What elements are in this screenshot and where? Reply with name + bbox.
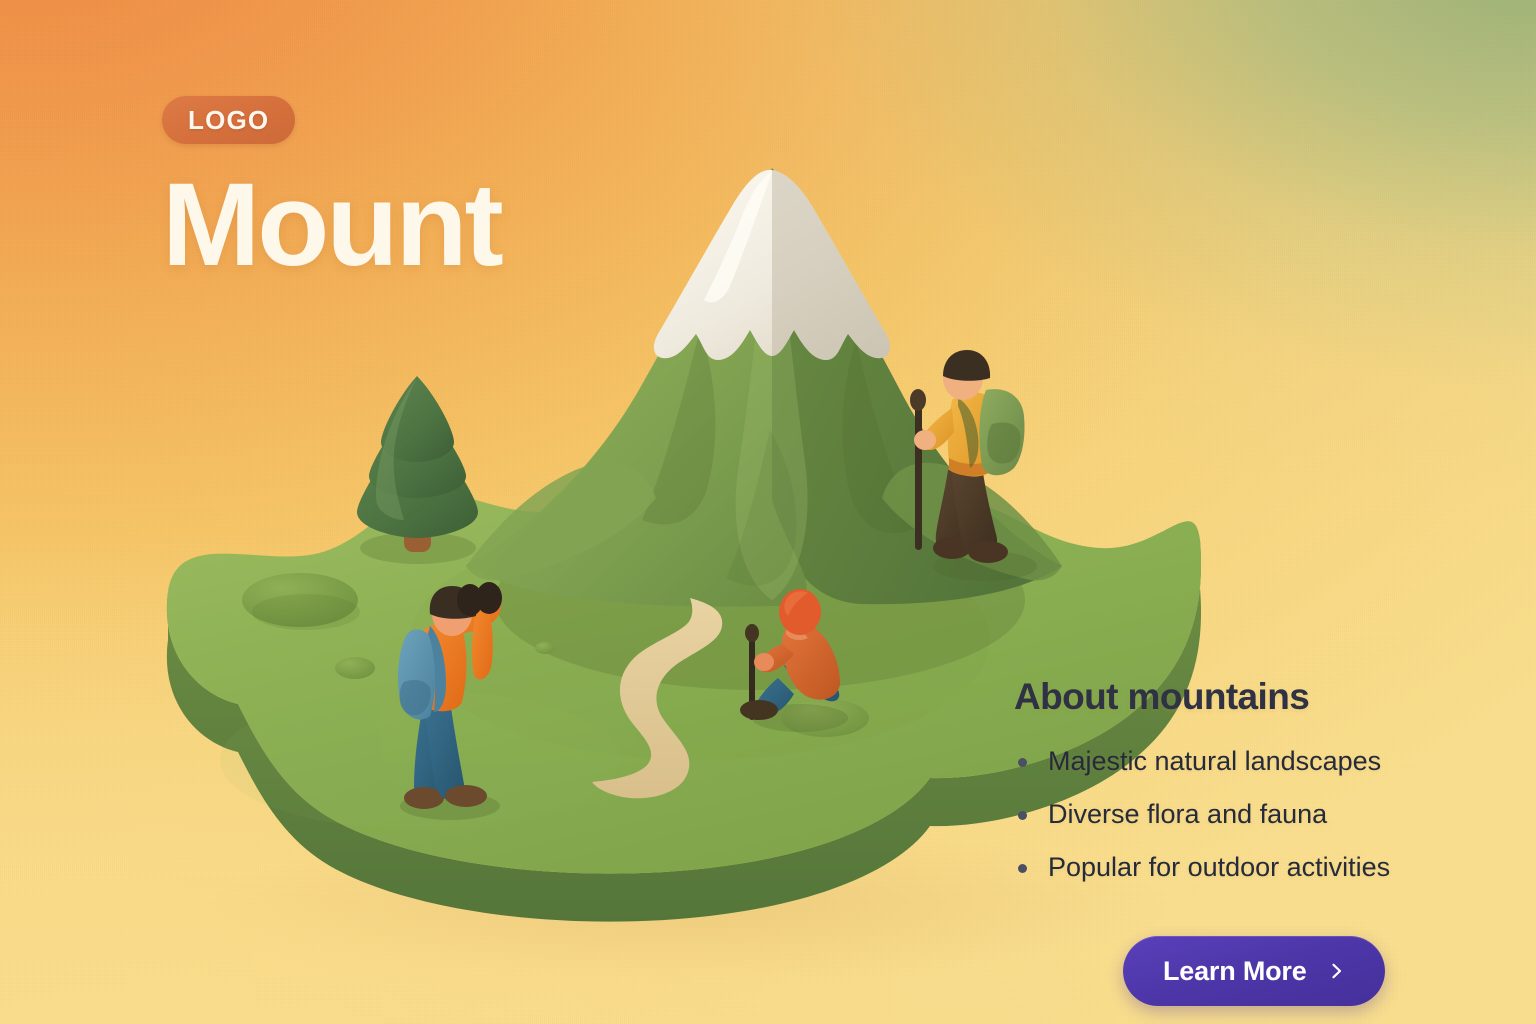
photographer-front-boot bbox=[445, 785, 487, 807]
seated-boot bbox=[740, 700, 778, 720]
learn-more-button[interactable]: Learn More bbox=[1123, 936, 1385, 1006]
logo-badge[interactable]: LOGO bbox=[162, 96, 295, 144]
bullet-dot-icon bbox=[1018, 811, 1027, 820]
hiker-hand bbox=[914, 430, 936, 450]
hero-text-block: LOGO Mount bbox=[162, 96, 501, 284]
about-heading: About mountains bbox=[1014, 676, 1494, 718]
list-item-label: Popular for outdoor activities bbox=[1048, 852, 1390, 882]
grass-dome-tiny bbox=[535, 642, 555, 654]
list-item: Popular for outdoor activities bbox=[1014, 852, 1494, 883]
grass-dome-large-shadow bbox=[252, 594, 360, 630]
list-item-label: Majestic natural landscapes bbox=[1048, 746, 1381, 776]
list-item-label: Diverse flora and fauna bbox=[1048, 799, 1327, 829]
learn-more-label: Learn More bbox=[1163, 956, 1307, 987]
seated-stick-knob bbox=[745, 624, 759, 642]
logo-label: LOGO bbox=[188, 105, 269, 136]
snow-shadow-face bbox=[772, 170, 890, 360]
hiker-stick-knob bbox=[910, 389, 926, 411]
bullet-dot-icon bbox=[1018, 864, 1027, 873]
hiker-cap bbox=[943, 350, 990, 381]
list-item: Majestic natural landscapes bbox=[1014, 746, 1494, 777]
bullet-dot-icon bbox=[1018, 758, 1027, 767]
page-title: Mount bbox=[162, 166, 501, 284]
hiker-front-boot bbox=[968, 541, 1008, 563]
about-feature-list: Majestic natural landscapes Diverse flor… bbox=[1014, 746, 1494, 883]
about-section: About mountains Majestic natural landsca… bbox=[1014, 676, 1494, 905]
list-item: Diverse flora and fauna bbox=[1014, 799, 1494, 830]
grass-dome-small-left bbox=[335, 657, 375, 679]
binoculars bbox=[457, 582, 502, 616]
chevron-right-icon bbox=[1329, 963, 1345, 979]
seated-hand bbox=[754, 653, 774, 671]
hiker-walking-stick bbox=[915, 400, 922, 550]
